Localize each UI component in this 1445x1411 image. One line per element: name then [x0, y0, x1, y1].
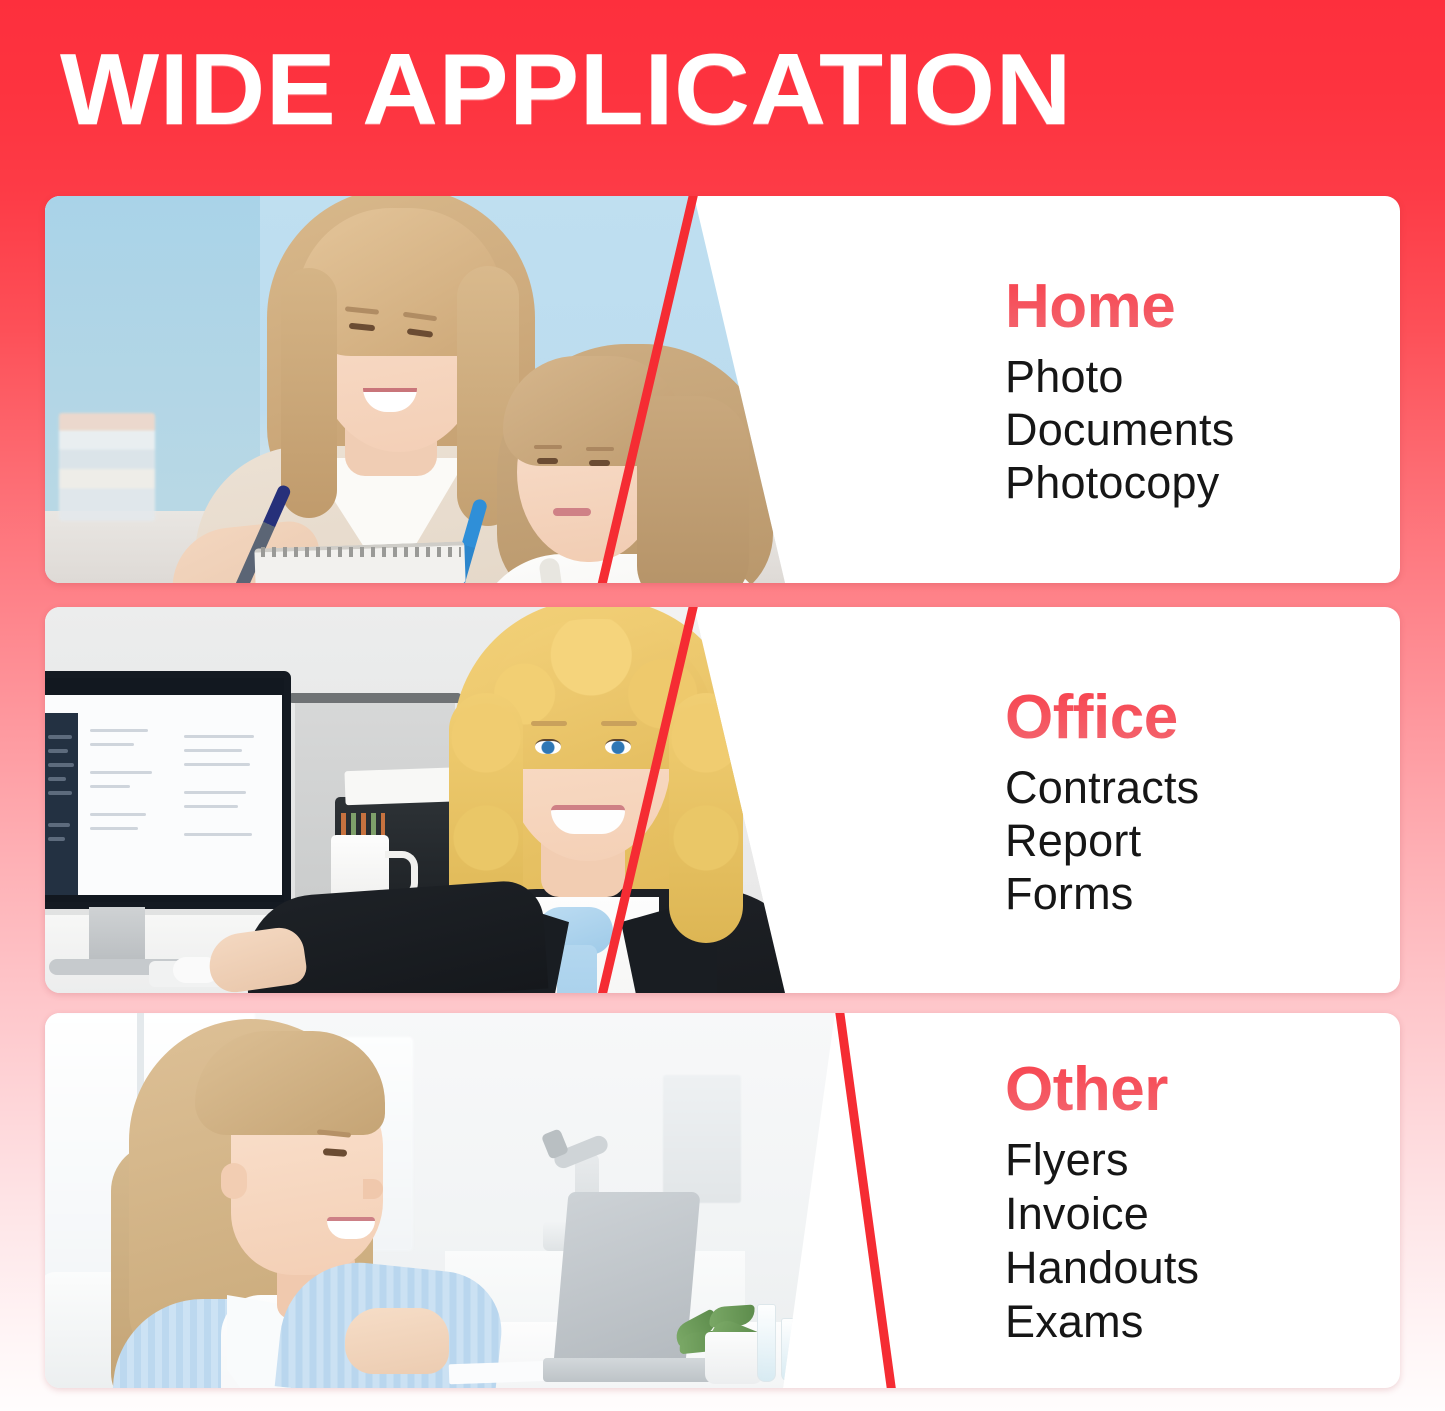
books-decor: [59, 413, 155, 521]
card-item-list-home: Photo Documents Photocopy: [1005, 350, 1400, 509]
page-title: WIDE APPLICATION: [60, 34, 1072, 146]
card-photo-other: [45, 1013, 845, 1388]
card-item-list-other: Flyers Invoice Handouts Exams: [1005, 1133, 1400, 1349]
list-item: Invoice: [1005, 1187, 1400, 1241]
card-text-home: Home Photo Documents Photocopy: [845, 196, 1400, 583]
card-text-other: Other Flyers Invoice Handouts Exams: [845, 1013, 1400, 1388]
card-heading-home: Home: [1005, 270, 1400, 344]
card-heading-other: Other: [1005, 1053, 1400, 1127]
card-text-office: Office Contracts Report Forms: [845, 607, 1400, 993]
feature-card-office: Office Contracts Report Forms: [45, 607, 1400, 993]
poster-root: WIDE APPLICATION: [0, 0, 1445, 1411]
list-item: Photo: [1005, 350, 1400, 403]
potted-plant: [705, 1332, 763, 1384]
feature-card-other: Other Flyers Invoice Handouts Exams: [45, 1013, 1400, 1388]
list-item: Exams: [1005, 1295, 1400, 1349]
list-item: Documents: [1005, 403, 1400, 456]
card-item-list-office: Contracts Report Forms: [1005, 761, 1400, 920]
feature-card-home: Home Photo Documents Photocopy: [45, 196, 1400, 583]
list-item: Forms: [1005, 867, 1400, 920]
card-photo-home: [45, 196, 797, 583]
list-item: Flyers: [1005, 1133, 1400, 1187]
list-item: Photocopy: [1005, 456, 1400, 509]
card-heading-office: Office: [1005, 681, 1400, 755]
list-item: Report: [1005, 814, 1400, 867]
title-banner: WIDE APPLICATION: [0, 0, 1445, 180]
list-item: Handouts: [1005, 1241, 1400, 1295]
list-item: Contracts: [1005, 761, 1400, 814]
